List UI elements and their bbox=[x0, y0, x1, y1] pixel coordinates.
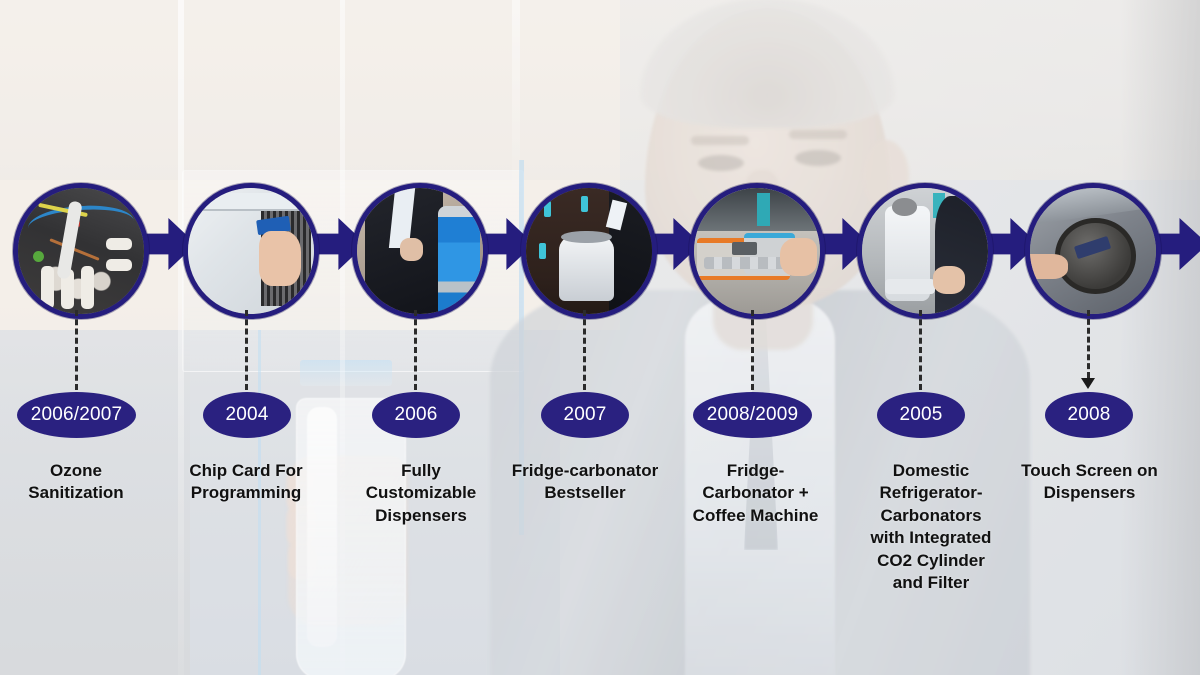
hand-figure bbox=[400, 238, 423, 261]
caption-2: Chip Card For Programming bbox=[165, 460, 327, 505]
connector-line-7 bbox=[1087, 310, 1090, 378]
hand-on-unit bbox=[933, 266, 966, 294]
caption-6-line-2: Refrigerator- bbox=[845, 482, 1017, 504]
lcd-display bbox=[732, 242, 757, 255]
tube-1 bbox=[41, 266, 54, 309]
control-panel-photo[interactable] bbox=[689, 183, 825, 319]
caption-6-line-6: and Filter bbox=[845, 572, 1017, 594]
green-connector bbox=[33, 251, 44, 262]
booth-logo-2 bbox=[581, 196, 588, 212]
year-pill-2[interactable]: 2004 bbox=[203, 392, 291, 438]
domestic-carbonator-image bbox=[862, 188, 988, 314]
white-dispenser-image bbox=[526, 188, 652, 314]
unit-top-panel bbox=[188, 193, 314, 211]
sparkling-bottle-image bbox=[357, 188, 483, 314]
connector-line-4 bbox=[583, 310, 586, 390]
teal-accent bbox=[757, 193, 770, 226]
caption-5-line-2: Carbonator + bbox=[668, 482, 843, 504]
white-dispenser-exhibition-photo[interactable] bbox=[521, 183, 657, 319]
dispenser-unit bbox=[559, 236, 614, 302]
touch-screen-image bbox=[1030, 188, 1156, 314]
blue-carbonator-bottle bbox=[438, 206, 481, 314]
caption-1-line-2: Sanitization bbox=[0, 482, 152, 504]
orange-wire bbox=[50, 239, 100, 262]
caption-6-line-4: with Integrated bbox=[845, 527, 1017, 549]
caption-5-line-3: Coffee Machine bbox=[668, 505, 843, 527]
connector-line-6 bbox=[919, 310, 922, 390]
tube-2 bbox=[61, 269, 74, 309]
connector-line-3 bbox=[414, 310, 417, 390]
year-pill-1[interactable]: 2006/2007 bbox=[17, 392, 136, 438]
caption-3-line-1: Fully bbox=[340, 460, 502, 482]
year-pill-6[interactable]: 2005 bbox=[877, 392, 965, 438]
caption-7: Touch Screen on Dispensers bbox=[1002, 460, 1177, 505]
caption-6-line-3: Carbonators bbox=[845, 505, 1017, 527]
year-pill-7[interactable]: 2008 bbox=[1045, 392, 1133, 438]
booth-logo-1 bbox=[544, 201, 551, 217]
timeline: 2006/2007 Ozone Sanitization 2004 Chip C… bbox=[0, 0, 1200, 675]
caption-7-line-1: Touch Screen on bbox=[1002, 460, 1177, 482]
caption-5: Fridge- Carbonator + Coffee Machine bbox=[668, 460, 843, 527]
yellow-wire bbox=[38, 203, 88, 217]
caption-3: Fully Customizable Dispensers bbox=[340, 460, 502, 527]
caption-6-line-5: CO2 Cylinder bbox=[845, 550, 1017, 572]
caption-7-line-2: Dispensers bbox=[1002, 482, 1177, 504]
chip-card-dispenser-photo[interactable] bbox=[183, 183, 319, 319]
touching-finger bbox=[1030, 254, 1068, 279]
red-indicator bbox=[71, 221, 80, 227]
connector-arrowhead-7 bbox=[1081, 378, 1095, 389]
caption-4-line-1: Fridge-carbonator bbox=[490, 460, 680, 482]
co2-cylinder bbox=[892, 198, 917, 216]
caption-4: Fridge-carbonator Bestseller bbox=[490, 460, 680, 505]
round-touch-button bbox=[1055, 218, 1136, 294]
chip-card-image bbox=[188, 188, 314, 314]
year-pill-5[interactable]: 2008/2009 bbox=[693, 392, 812, 438]
caption-6: Domestic Refrigerator- Carbonators with … bbox=[845, 460, 1017, 595]
booth-logo-4 bbox=[539, 243, 546, 259]
caption-5-line-1: Fridge- bbox=[668, 460, 843, 482]
hand-holding-card bbox=[259, 231, 302, 286]
button-row bbox=[704, 257, 787, 268]
control-panel-image bbox=[694, 188, 820, 314]
drip-tray bbox=[885, 279, 935, 294]
caption-2-line-1: Chip Card For bbox=[165, 460, 327, 482]
person-arm bbox=[935, 196, 988, 314]
connector-line-2 bbox=[245, 310, 248, 390]
caption-2-line-2: Programming bbox=[165, 482, 327, 504]
touch-screen-button-photo[interactable] bbox=[1025, 183, 1161, 319]
caption-3-line-2: Customizable bbox=[340, 482, 502, 504]
domestic-carbonator-photo[interactable] bbox=[857, 183, 993, 319]
caption-3-line-3: Dispensers bbox=[340, 505, 502, 527]
tube-3 bbox=[81, 266, 94, 309]
connector-line-5 bbox=[751, 310, 754, 390]
sparkling-water-bottle-photo[interactable] bbox=[352, 183, 488, 319]
tube-5 bbox=[106, 259, 132, 271]
caption-6-line-1: Domestic bbox=[845, 460, 1017, 482]
infographic-canvas: 2006/2007 Ozone Sanitization 2004 Chip C… bbox=[0, 0, 1200, 675]
caption-1: Ozone Sanitization bbox=[0, 460, 152, 505]
tube-4 bbox=[106, 238, 132, 250]
machine-internals-image bbox=[18, 188, 144, 314]
machine-internals-photo[interactable] bbox=[13, 183, 149, 319]
connector-line-1 bbox=[75, 310, 78, 390]
year-pill-3[interactable]: 2006 bbox=[372, 392, 460, 438]
caption-4-line-2: Bestseller bbox=[490, 482, 680, 504]
pressing-finger bbox=[780, 238, 818, 276]
year-pill-4[interactable]: 2007 bbox=[541, 392, 629, 438]
caption-1-line-1: Ozone bbox=[0, 460, 152, 482]
